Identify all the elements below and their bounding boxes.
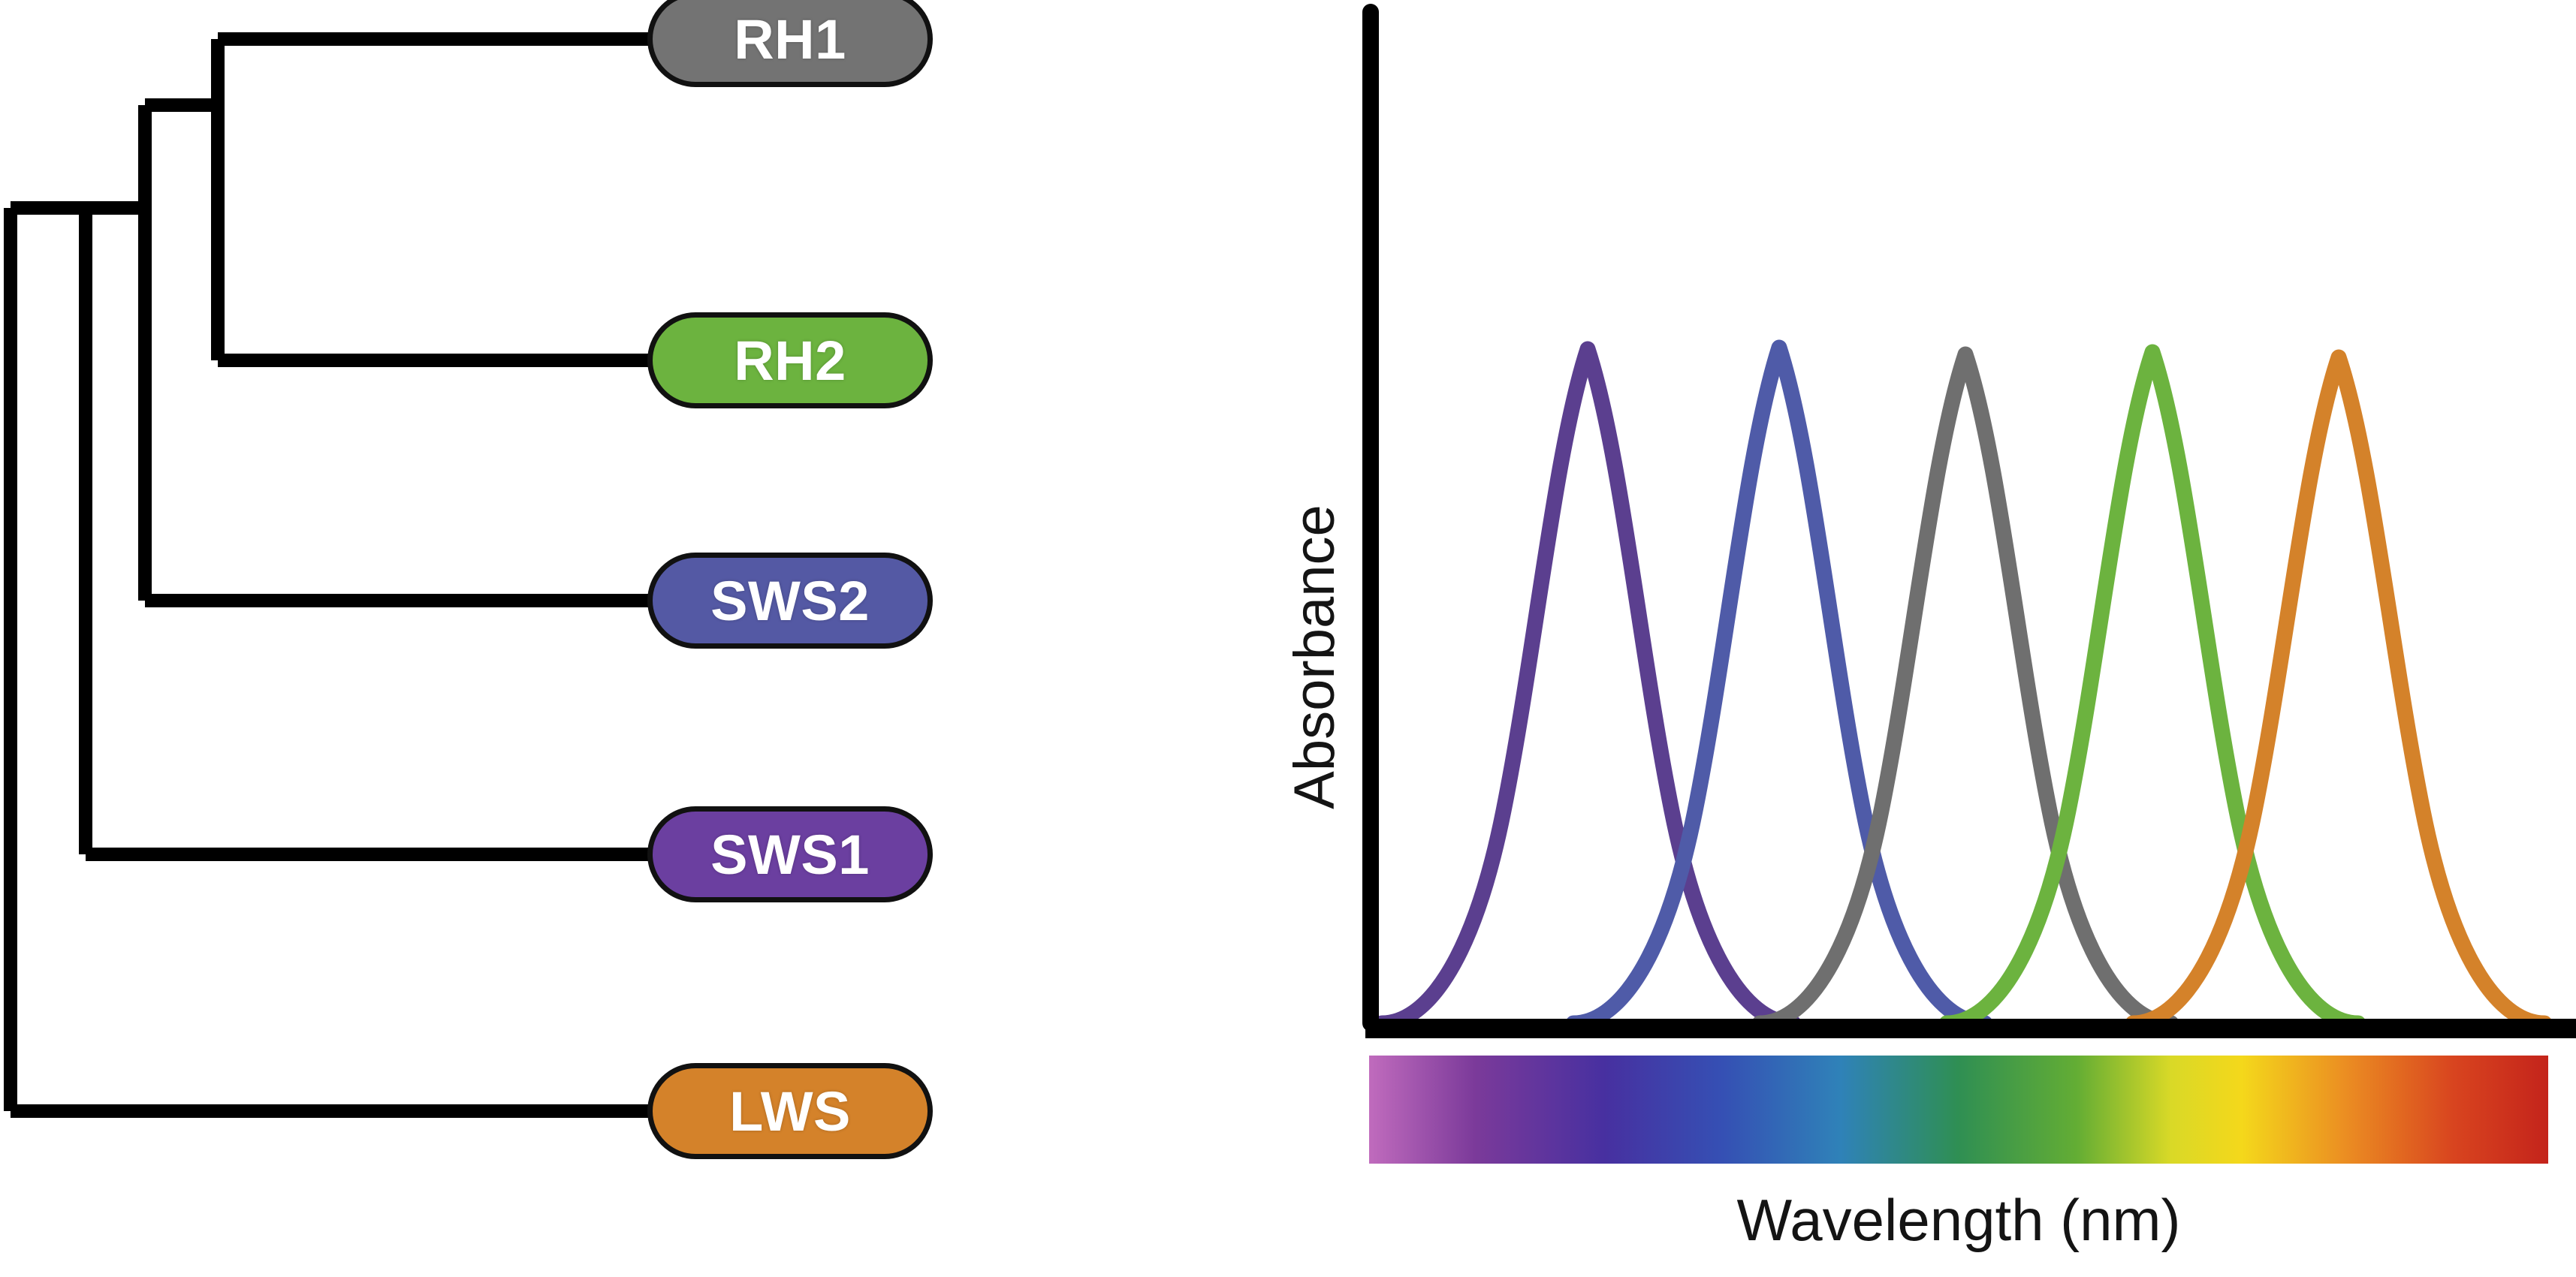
x-axis-title: Wavelength (nm): [1369, 1186, 2548, 1254]
leaf-label-sws2: SWS2: [710, 569, 870, 633]
leaf-label-sws1: SWS1: [710, 823, 870, 887]
leaf-chip-rh2[interactable]: RH2: [647, 312, 933, 408]
visible-spectrum-bar: [1369, 1056, 2548, 1164]
curve-rh1: [1760, 354, 2171, 1023]
curve-rh2: [1947, 352, 2358, 1023]
leaf-chip-lws[interactable]: LWS: [647, 1063, 933, 1159]
leaf-label-lws: LWS: [729, 1080, 851, 1143]
curve-sws1: [1382, 349, 1793, 1023]
absorbance-spectra-panel: Absorbance Wavelength (nm): [1232, 0, 2576, 1277]
leaf-chip-sws1[interactable]: SWS1: [647, 806, 933, 902]
spectra-curves: [1382, 348, 2544, 1023]
leaf-label-rh2: RH2: [734, 329, 846, 393]
curve-sws2: [1573, 348, 1985, 1023]
leaf-chip-sws2[interactable]: SWS2: [647, 553, 933, 649]
opsin-figure: RH1 RH2 SWS2 SWS1 LWS: [0, 0, 2576, 1277]
leaf-label-rh1: RH1: [734, 8, 846, 71]
tree-branches: [0, 0, 1232, 1277]
curve-lws: [2133, 357, 2544, 1023]
phylogenetic-tree-panel: RH1 RH2 SWS2 SWS1 LWS: [0, 0, 1232, 1277]
y-axis-title: Absorbance: [1278, 417, 1350, 897]
leaf-chip-rh1[interactable]: RH1: [647, 0, 933, 87]
